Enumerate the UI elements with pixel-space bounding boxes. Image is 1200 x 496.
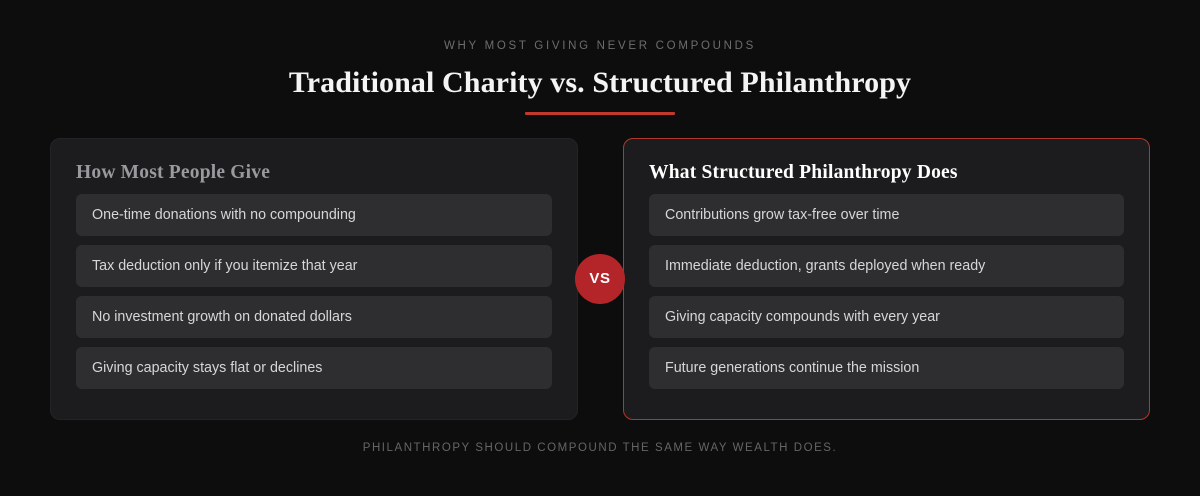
- vs-badge: VS: [575, 254, 625, 304]
- eyebrow-label: WHY MOST GIVING NEVER COMPOUNDS: [0, 38, 1200, 54]
- item-list-left: One-time donations with no compounding T…: [76, 194, 552, 389]
- list-item: Giving capacity compounds with every yea…: [649, 296, 1124, 338]
- list-item: Contributions grow tax-free over time: [649, 194, 1124, 236]
- card-traditional-charity: How Most People Give One-time donations …: [50, 138, 578, 420]
- item-list-right: Contributions grow tax-free over time Im…: [649, 194, 1124, 389]
- comparison-infographic: WHY MOST GIVING NEVER COMPOUNDS Traditio…: [0, 0, 1200, 496]
- footnote-caption: PHILANTHROPY SHOULD COMPOUND THE SAME WA…: [0, 441, 1200, 456]
- page-title: Traditional Charity vs. Structured Phila…: [0, 66, 1200, 100]
- list-item: Tax deduction only if you itemize that y…: [76, 245, 552, 287]
- card-title-right: What Structured Philanthropy Does: [649, 161, 1124, 185]
- header: WHY MOST GIVING NEVER COMPOUNDS Traditio…: [0, 0, 1200, 115]
- list-item: One-time donations with no compounding: [76, 194, 552, 236]
- list-item: Immediate deduction, grants deployed whe…: [649, 245, 1124, 287]
- list-item: Future generations continue the mission: [649, 347, 1124, 389]
- list-item: No investment growth on donated dollars: [76, 296, 552, 338]
- card-structured-philanthropy: What Structured Philanthropy Does Contri…: [623, 138, 1150, 420]
- list-item: Giving capacity stays flat or declines: [76, 347, 552, 389]
- card-title-left: How Most People Give: [76, 161, 552, 185]
- title-underline-accent: [525, 112, 675, 115]
